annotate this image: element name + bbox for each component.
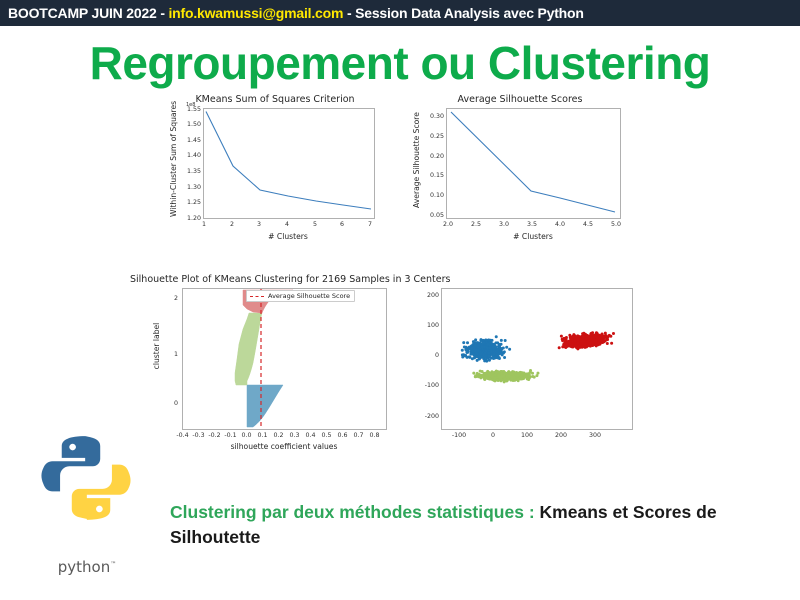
scatter-point bbox=[503, 377, 506, 380]
x-tick-label: 5.0 bbox=[608, 221, 624, 228]
scatter-point bbox=[598, 337, 601, 340]
x-tick-label: 300 bbox=[583, 432, 607, 439]
y-tick-label: 1.20 bbox=[177, 215, 201, 222]
scatter-point bbox=[475, 352, 478, 355]
scatter-point bbox=[495, 335, 498, 338]
header-email: info.kwamussi@gmail.com bbox=[168, 5, 343, 21]
python-logo-yellow-half bbox=[72, 465, 131, 520]
scatter-point bbox=[484, 358, 487, 361]
x-tick-label: 0.3 bbox=[286, 432, 303, 439]
scatter-point bbox=[494, 345, 497, 348]
y-tick-label: 1.45 bbox=[177, 137, 201, 144]
y-tick-label: 200 bbox=[413, 292, 439, 299]
chart-title: Average Silhouette Scores bbox=[400, 94, 640, 105]
legend-label: Average Silhouette Score bbox=[268, 292, 350, 300]
caption-green-part: Clustering par deux méthodes statistique… bbox=[170, 502, 540, 522]
scatter-point bbox=[481, 342, 484, 345]
scatter-point bbox=[506, 379, 509, 382]
scatter-point bbox=[498, 357, 501, 360]
scatter-point bbox=[491, 346, 494, 349]
scatter-point bbox=[481, 370, 484, 373]
x-tick-label: 200 bbox=[549, 432, 573, 439]
scatter-point bbox=[464, 348, 467, 351]
scatter-point bbox=[506, 374, 509, 377]
scatter-point bbox=[599, 340, 602, 343]
x-tick-label: 2 bbox=[227, 221, 237, 228]
x-tick-label: 0.7 bbox=[350, 432, 367, 439]
y-tick-label: 0.30 bbox=[418, 113, 444, 120]
python-logo bbox=[40, 432, 132, 524]
x-tick-label: 6 bbox=[337, 221, 347, 228]
scatter-point bbox=[558, 346, 561, 349]
page-title: Regroupement ou Clustering bbox=[0, 36, 800, 90]
scatter-point bbox=[479, 353, 482, 356]
y-tick-label: 0.05 bbox=[418, 212, 444, 219]
line-series bbox=[204, 109, 374, 218]
header-prefix: BOOTCAMP JUIN 2022 - bbox=[8, 5, 168, 21]
chart-kmeans-elbow: KMeans Sum of Squares Criterion 1e8 1.20… bbox=[155, 92, 395, 252]
x-tick-label: -0.1 bbox=[222, 432, 239, 439]
chart-cluster-scatter: -200 -100 0 100 200 -100 0 100 200 300 bbox=[405, 274, 645, 474]
y-tick-label: 1.30 bbox=[177, 184, 201, 191]
x-tick-label: 3.5 bbox=[524, 221, 540, 228]
chart-silhouette-plot: Silhouette Plot of KMeans Clustering for… bbox=[130, 274, 400, 474]
x-tick-label: 5 bbox=[310, 221, 320, 228]
y-tick-label: 1 bbox=[160, 351, 178, 358]
x-tick-label: 0.8 bbox=[366, 432, 383, 439]
scatter-point bbox=[488, 374, 491, 377]
y-tick-label: 0 bbox=[160, 400, 178, 407]
scatter-point bbox=[579, 338, 582, 341]
y-tick-label: 1.50 bbox=[177, 121, 201, 128]
x-tick-label: 4.0 bbox=[552, 221, 568, 228]
scatter-point bbox=[471, 352, 474, 355]
scatter-point bbox=[577, 341, 580, 344]
x-tick-label: 2.0 bbox=[440, 221, 456, 228]
y-axis-label: cluster label bbox=[152, 296, 161, 396]
x-tick-label: 7 bbox=[365, 221, 375, 228]
x-tick-label: 3.0 bbox=[496, 221, 512, 228]
scatter-point bbox=[475, 355, 478, 358]
scatter-point bbox=[576, 334, 579, 337]
line-series bbox=[447, 109, 620, 218]
scatter-point bbox=[487, 372, 490, 375]
x-tick-label: 0.4 bbox=[302, 432, 319, 439]
y-tick-label: 0.20 bbox=[418, 153, 444, 160]
scatter-point bbox=[520, 373, 523, 376]
scatter-point bbox=[494, 376, 497, 379]
scatter-point bbox=[496, 341, 499, 344]
scatter-point bbox=[509, 372, 512, 375]
scatter-point bbox=[511, 377, 514, 380]
x-tick-label: 3 bbox=[254, 221, 264, 228]
scatter-point bbox=[569, 336, 572, 339]
scatter-point bbox=[480, 345, 483, 348]
scatter-point bbox=[478, 373, 481, 376]
scatter-point bbox=[488, 355, 491, 358]
python-wordmark: python™ bbox=[42, 558, 132, 576]
y-axis-label: Within-Cluster Sum of Squares bbox=[169, 105, 178, 217]
header-title: BOOTCAMP JUIN 2022 - info.kwamussi@gmail… bbox=[0, 5, 584, 21]
scatter-point bbox=[487, 339, 490, 342]
y-tick-label: 1.40 bbox=[177, 152, 201, 159]
slide-caption: Clustering par deux méthodes statistique… bbox=[170, 500, 785, 551]
x-tick-label: 2.5 bbox=[468, 221, 484, 228]
silhouette-areas bbox=[183, 289, 386, 429]
scatter-point bbox=[504, 339, 507, 342]
scatter-point bbox=[491, 339, 494, 342]
x-tick-label: 1 bbox=[199, 221, 209, 228]
y-tick-label: -100 bbox=[413, 382, 439, 389]
x-tick-label: 0.6 bbox=[334, 432, 351, 439]
scatter-point bbox=[604, 332, 607, 335]
x-tick-label: 100 bbox=[515, 432, 539, 439]
scatter-point bbox=[497, 371, 500, 374]
legend: Average Silhouette Score bbox=[246, 290, 355, 302]
scatter-point bbox=[496, 348, 499, 351]
x-tick-label: 0.2 bbox=[270, 432, 287, 439]
scatter-point bbox=[461, 349, 464, 352]
scatter-point bbox=[587, 344, 590, 347]
scatter-point bbox=[472, 372, 475, 375]
y-tick-label: 2 bbox=[160, 295, 178, 302]
x-tick-label: 4 bbox=[282, 221, 292, 228]
scatter-point bbox=[493, 352, 496, 355]
scatter-point bbox=[468, 355, 471, 358]
scatter-point bbox=[505, 346, 508, 349]
scatter-point bbox=[581, 332, 584, 335]
scatter-point bbox=[482, 353, 485, 356]
scatter-point bbox=[528, 373, 531, 376]
scatter-point bbox=[568, 342, 571, 345]
scatter-point bbox=[477, 349, 480, 352]
scatter-point bbox=[516, 378, 519, 381]
scatter-point bbox=[527, 378, 530, 381]
scatter-point bbox=[606, 342, 609, 345]
y-tick-label: -200 bbox=[413, 413, 439, 420]
plot-area bbox=[203, 108, 375, 219]
scatter-point bbox=[480, 356, 483, 359]
scatter-point bbox=[571, 340, 574, 343]
scatter-point bbox=[531, 375, 534, 378]
figures-container: KMeans Sum of Squares Criterion 1e8 1.20… bbox=[0, 92, 800, 482]
header-band: BOOTCAMP JUIN 2022 - info.kwamussi@gmail… bbox=[0, 0, 800, 26]
scatter-point bbox=[612, 332, 615, 335]
scatter-point bbox=[535, 374, 538, 377]
average-silhouette-line-icon bbox=[250, 296, 264, 297]
scatter-point bbox=[466, 341, 469, 344]
scatter-point bbox=[610, 342, 613, 345]
scatter-point bbox=[487, 352, 490, 355]
scatter-point bbox=[591, 333, 594, 336]
scatter-point bbox=[474, 341, 477, 344]
y-tick-label: 0.25 bbox=[418, 133, 444, 140]
scatter-point bbox=[464, 354, 467, 357]
y-axis-label: Average Silhouette Score bbox=[412, 105, 421, 215]
scatter-point bbox=[515, 374, 518, 377]
scatter-point bbox=[595, 343, 598, 346]
y-tick-label: 100 bbox=[413, 322, 439, 329]
plot-area bbox=[182, 288, 387, 430]
scatter-point bbox=[492, 357, 495, 360]
scatter-point bbox=[498, 374, 501, 377]
scatter-point bbox=[500, 339, 503, 342]
scatter-point bbox=[479, 376, 482, 379]
x-tick-label: 0 bbox=[481, 432, 505, 439]
python-wordmark-text: python bbox=[58, 558, 110, 576]
scatter-point bbox=[488, 346, 491, 349]
scatter-point bbox=[479, 339, 482, 342]
python-logo-blue-half bbox=[41, 436, 100, 491]
x-tick-label: 0.0 bbox=[238, 432, 255, 439]
scatter-point bbox=[569, 345, 572, 348]
x-axis-label: silhouette coefficient values bbox=[214, 442, 354, 451]
scatter-point bbox=[503, 350, 506, 353]
scatter-point bbox=[466, 351, 469, 354]
scatter-point bbox=[462, 341, 465, 344]
scatter-point bbox=[561, 345, 564, 348]
plot-area bbox=[441, 288, 633, 430]
x-tick-label: -0.2 bbox=[206, 432, 223, 439]
x-tick-label: -100 bbox=[447, 432, 471, 439]
scatter-point bbox=[508, 348, 511, 351]
chart-average-silhouette: Average Silhouette Scores 0.05 0.10 0.15… bbox=[400, 92, 640, 252]
scatter-point bbox=[513, 371, 516, 374]
scatter-point bbox=[474, 344, 477, 347]
x-tick-label: 0.1 bbox=[254, 432, 271, 439]
scatter-point bbox=[491, 371, 494, 374]
y-tick-label: 0 bbox=[413, 352, 439, 359]
scatter-point bbox=[584, 338, 587, 341]
scatter-point bbox=[593, 340, 596, 343]
scatter-point bbox=[609, 335, 612, 338]
scatter-point bbox=[486, 343, 489, 346]
x-axis-label: # Clusters bbox=[478, 232, 588, 241]
scatter-point bbox=[471, 346, 474, 349]
x-axis-label: # Clusters bbox=[233, 232, 343, 241]
scatter-point bbox=[503, 356, 506, 359]
x-tick-label: -0.4 bbox=[174, 432, 191, 439]
x-tick-label: 0.5 bbox=[318, 432, 335, 439]
scatter-point bbox=[606, 338, 609, 341]
x-tick-label: -0.3 bbox=[190, 432, 207, 439]
scatter-point bbox=[523, 375, 526, 378]
y-tick-label: 0.15 bbox=[418, 172, 444, 179]
scatter-point bbox=[602, 335, 605, 338]
y-tick-label: 1.35 bbox=[177, 168, 201, 175]
y-tick-label: 0.10 bbox=[418, 192, 444, 199]
scatter-point bbox=[486, 377, 489, 380]
scatter-point bbox=[501, 374, 504, 377]
scatter-point bbox=[588, 336, 591, 339]
scatter-point bbox=[563, 342, 566, 345]
trademark-symbol: ™ bbox=[110, 561, 116, 568]
scatter-point bbox=[575, 346, 578, 349]
scatter-point bbox=[478, 344, 481, 347]
x-tick-label: 4.5 bbox=[580, 221, 596, 228]
plot-area bbox=[446, 108, 621, 219]
y-tick-label: 1.25 bbox=[177, 199, 201, 206]
scatter-point bbox=[582, 335, 585, 338]
scatter-point bbox=[488, 359, 491, 362]
y-tick-label: 1.55 bbox=[177, 106, 201, 113]
scatter-point bbox=[560, 335, 563, 338]
scatter-point bbox=[498, 352, 501, 355]
scatter-series bbox=[442, 289, 632, 429]
scatter-point bbox=[531, 372, 534, 375]
scatter-point bbox=[595, 331, 598, 334]
header-suffix: - Session Data Analysis avec Python bbox=[343, 5, 584, 21]
scatter-point bbox=[498, 344, 501, 347]
